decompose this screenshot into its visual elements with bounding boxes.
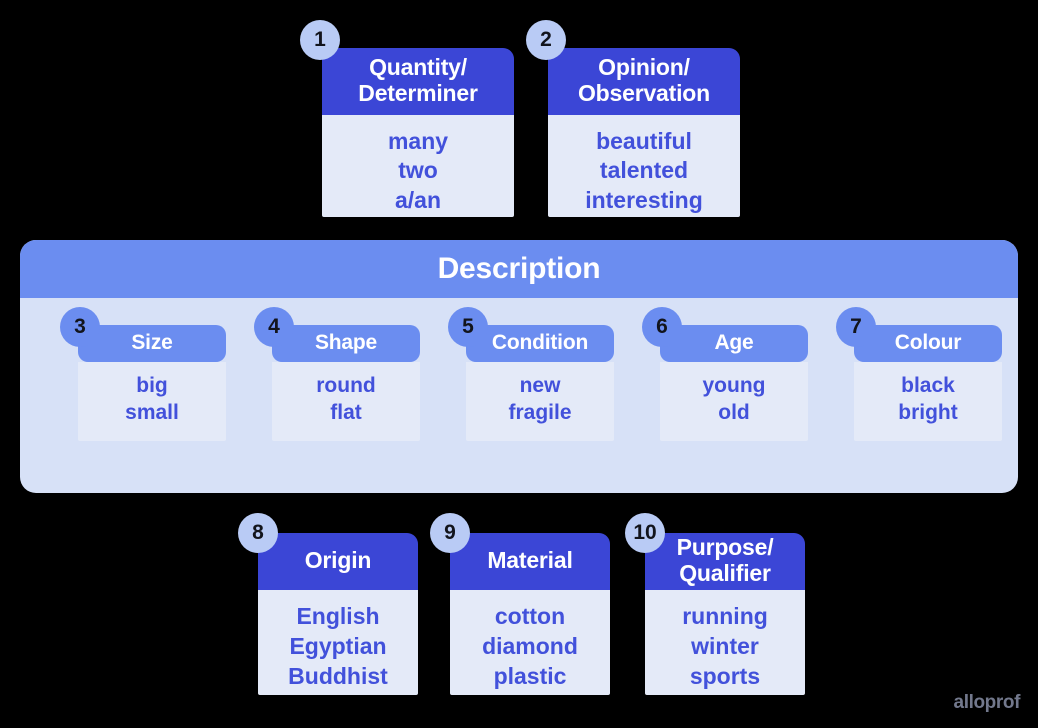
example-word: sports	[690, 662, 760, 692]
category-card-8-title: Origin	[258, 533, 418, 590]
category-card-8: 8 Origin English Egyptian Buddhist	[258, 533, 418, 695]
step-badge-7: 7	[836, 307, 876, 347]
category-card-10-title-line-1: Purpose/	[677, 534, 774, 560]
step-badge-1: 1	[300, 20, 340, 60]
category-card-1: 1 Quantity/ Determiner many two a/an	[322, 48, 514, 217]
category-card-8-examples: English Egyptian Buddhist	[258, 590, 418, 695]
category-card-5-examples: new fragile	[466, 362, 614, 441]
alloprof-watermark: alloprof	[954, 692, 1020, 714]
category-card-1-title: Quantity/ Determiner	[322, 48, 514, 115]
step-badge-3: 3	[60, 307, 100, 347]
category-card-9-title-line-1: Material	[487, 547, 572, 573]
category-card-3-title: Size	[78, 325, 226, 362]
step-badge-8: 8	[238, 513, 278, 553]
step-badge-9: 9	[430, 513, 470, 553]
description-panel-title: Description	[20, 240, 1018, 298]
example-word: black	[901, 372, 955, 399]
category-card-5: 5 Condition new fragile	[466, 325, 614, 441]
category-card-7-examples: black bright	[854, 362, 1002, 441]
example-word: bright	[898, 399, 957, 426]
example-word: two	[398, 156, 438, 186]
example-word: interesting	[585, 186, 703, 216]
example-word: flat	[330, 399, 362, 426]
step-badge-10: 10	[625, 513, 665, 553]
category-card-6: 6 Age young old	[660, 325, 808, 441]
example-word: big	[136, 372, 168, 399]
example-word: fragile	[508, 399, 571, 426]
category-card-2-title: Opinion/ Observation	[548, 48, 740, 115]
adjective-order-diagram: 1 Quantity/ Determiner many two a/an 2 O…	[0, 0, 1038, 728]
category-card-2-examples: beautiful talented interesting	[548, 115, 740, 217]
step-badge-4: 4	[254, 307, 294, 347]
category-card-7: 7 Colour black bright	[854, 325, 1002, 441]
step-badge-6: 6	[642, 307, 682, 347]
category-card-4-examples: round flat	[272, 362, 420, 441]
category-card-2: 2 Opinion/ Observation beautiful talente…	[548, 48, 740, 217]
example-word: beautiful	[596, 127, 692, 157]
example-word: young	[703, 372, 766, 399]
example-word: old	[718, 399, 750, 426]
example-word: diamond	[482, 632, 578, 662]
category-card-10-title: Purpose/ Qualifier	[645, 533, 805, 590]
category-card-3: 3 Size big small	[78, 325, 226, 441]
example-word: new	[520, 372, 561, 399]
category-card-1-title-line-1: Quantity/	[369, 54, 467, 80]
category-card-6-title: Age	[660, 325, 808, 362]
category-card-5-title: Condition	[466, 325, 614, 362]
example-word: Buddhist	[288, 662, 388, 692]
example-word: talented	[600, 156, 688, 186]
category-card-8-title-line-1: Origin	[305, 547, 372, 573]
category-card-2-title-line-1: Opinion/	[598, 54, 690, 80]
example-word: cotton	[495, 602, 565, 632]
example-word: small	[125, 399, 179, 426]
category-card-1-title-line-2: Determiner	[358, 80, 477, 106]
category-card-9-examples: cotton diamond plastic	[450, 590, 610, 695]
example-word: a/an	[395, 186, 441, 216]
category-card-2-title-line-2: Observation	[578, 80, 710, 106]
example-word: winter	[691, 632, 759, 662]
example-word: round	[316, 372, 375, 399]
example-word: running	[682, 602, 768, 632]
category-card-4: 4 Shape round flat	[272, 325, 420, 441]
category-card-9-title: Material	[450, 533, 610, 590]
category-card-4-title: Shape	[272, 325, 420, 362]
category-card-10-examples: running winter sports	[645, 590, 805, 695]
step-badge-2: 2	[526, 20, 566, 60]
example-word: English	[296, 602, 379, 632]
step-badge-5: 5	[448, 307, 488, 347]
example-word: many	[388, 127, 448, 157]
category-card-10-title-line-2: Qualifier	[679, 560, 771, 586]
category-card-10: 10 Purpose/ Qualifier running winter spo…	[645, 533, 805, 695]
category-card-6-examples: young old	[660, 362, 808, 441]
description-panel: Description 3 Size big small 4 Shape rou…	[20, 240, 1018, 493]
example-word: plastic	[494, 662, 567, 692]
category-card-9: 9 Material cotton diamond plastic	[450, 533, 610, 695]
category-card-7-title: Colour	[854, 325, 1002, 362]
category-card-1-examples: many two a/an	[322, 115, 514, 217]
category-card-3-examples: big small	[78, 362, 226, 441]
example-word: Egyptian	[289, 632, 386, 662]
